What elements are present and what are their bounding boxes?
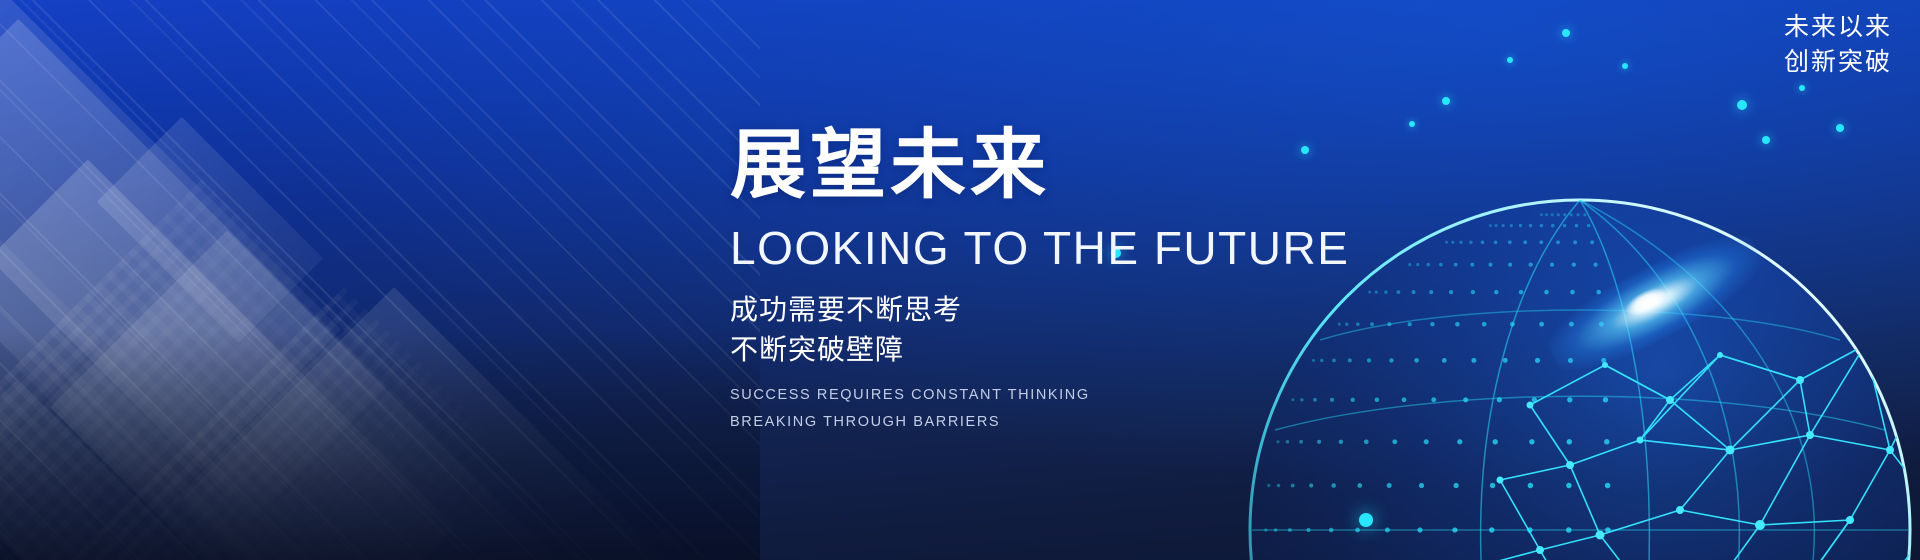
chinese-tagline-line: 成功需要不断思考 [730,290,1349,330]
diagonal-hairlines-icon [0,0,760,560]
light-flare-icon [1537,218,1773,388]
spark-dot [1359,513,1373,527]
chinese-tagline-line: 不断突破壁障 [730,330,1349,370]
light-flare-core-icon [1623,283,1669,320]
page-subtitle: LOOKING TO THE FUTURE [730,224,1349,272]
diagonal-panel [0,159,456,560]
chinese-tagline-group: 成功需要不断思考 不断突破壁障 [730,290,1349,370]
spark-dot [1762,136,1770,144]
spark-dot [1442,97,1450,105]
left-geometry-decoration [0,0,760,560]
english-tagline-line: BREAKING THROUGH BARRIERS [730,409,1349,436]
spark-dot [1799,85,1805,91]
spark-dot [1562,29,1570,37]
spark-dot [1836,124,1844,132]
corner-slogan-line: 未来以来 [1784,10,1892,45]
spark-dot [1409,121,1415,127]
english-tagline-line: SUCCESS REQUIRES CONSTANT THINKING [730,382,1349,409]
diagonal-panel [182,287,698,560]
headline-block: 展望未来 LOOKING TO THE FUTURE 成功需要不断思考 不断突破… [730,128,1349,435]
diagonal-hairlines-secondary-icon [0,0,760,560]
diagonal-panel [0,381,249,560]
diagonal-panel [0,19,386,521]
page-title: 展望未来 [730,128,1349,204]
square-dot-grid-secondary-icon [47,287,613,560]
hero-banner: 展望未来 LOOKING TO THE FUTURE 成功需要不断思考 不断突破… [0,0,1920,560]
spark-dot [1507,57,1513,63]
spark-dot [1737,100,1747,110]
english-tagline-group: SUCCESS REQUIRES CONSTANT THINKING BREAK… [730,382,1349,436]
spark-dot [1622,63,1628,69]
diagonal-panel [0,108,102,462]
bottom-vignette [0,330,760,560]
corner-slogan: 未来以来 创新突破 [1784,10,1892,79]
diagonal-panel [97,117,323,343]
diagonal-panel [0,0,341,506]
diagonal-panel [50,230,559,560]
square-dot-grid-icon [0,179,506,560]
corner-slogan-line: 创新突破 [1784,45,1892,80]
